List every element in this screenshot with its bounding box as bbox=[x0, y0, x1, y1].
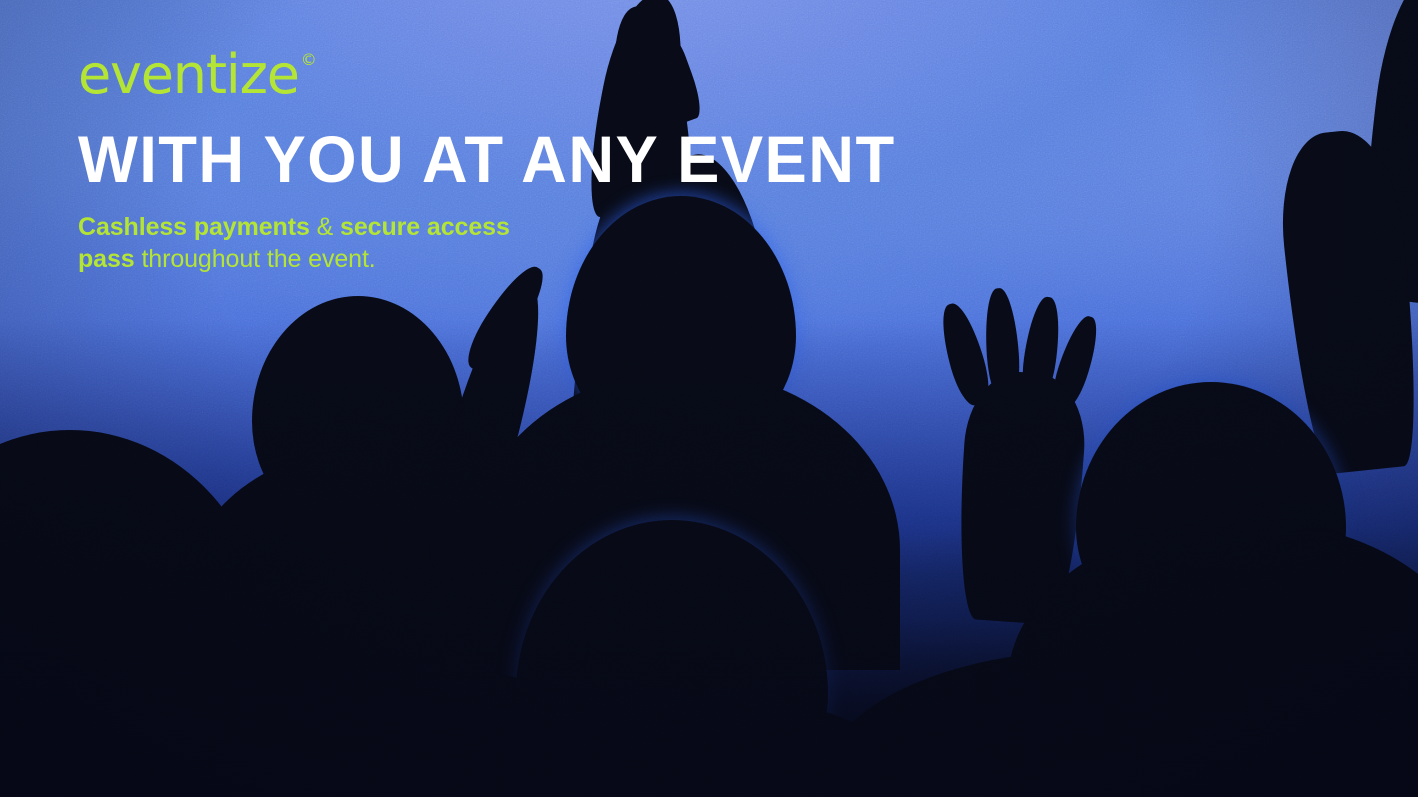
subheading-part-2: secure bbox=[340, 213, 420, 241]
subheading-ampersand: & bbox=[317, 213, 334, 241]
hero-content: eventize © WITH YOU AT ANY EVENT Cashles… bbox=[78, 48, 978, 275]
subheading-part-4: throughout the event. bbox=[141, 245, 375, 273]
page-title: WITH YOU AT ANY EVENT bbox=[78, 126, 942, 193]
subheading-part-1: Cashless payments bbox=[78, 213, 310, 241]
hero-subheading: Cashless payments & secure access pass t… bbox=[78, 211, 548, 275]
brand-logo-wordmark: eventize bbox=[78, 48, 299, 102]
hero-banner: eventize © WITH YOU AT ANY EVENT Cashles… bbox=[0, 0, 1418, 797]
copyright-icon: © bbox=[301, 52, 317, 68]
brand-logo[interactable]: eventize © bbox=[78, 48, 978, 102]
